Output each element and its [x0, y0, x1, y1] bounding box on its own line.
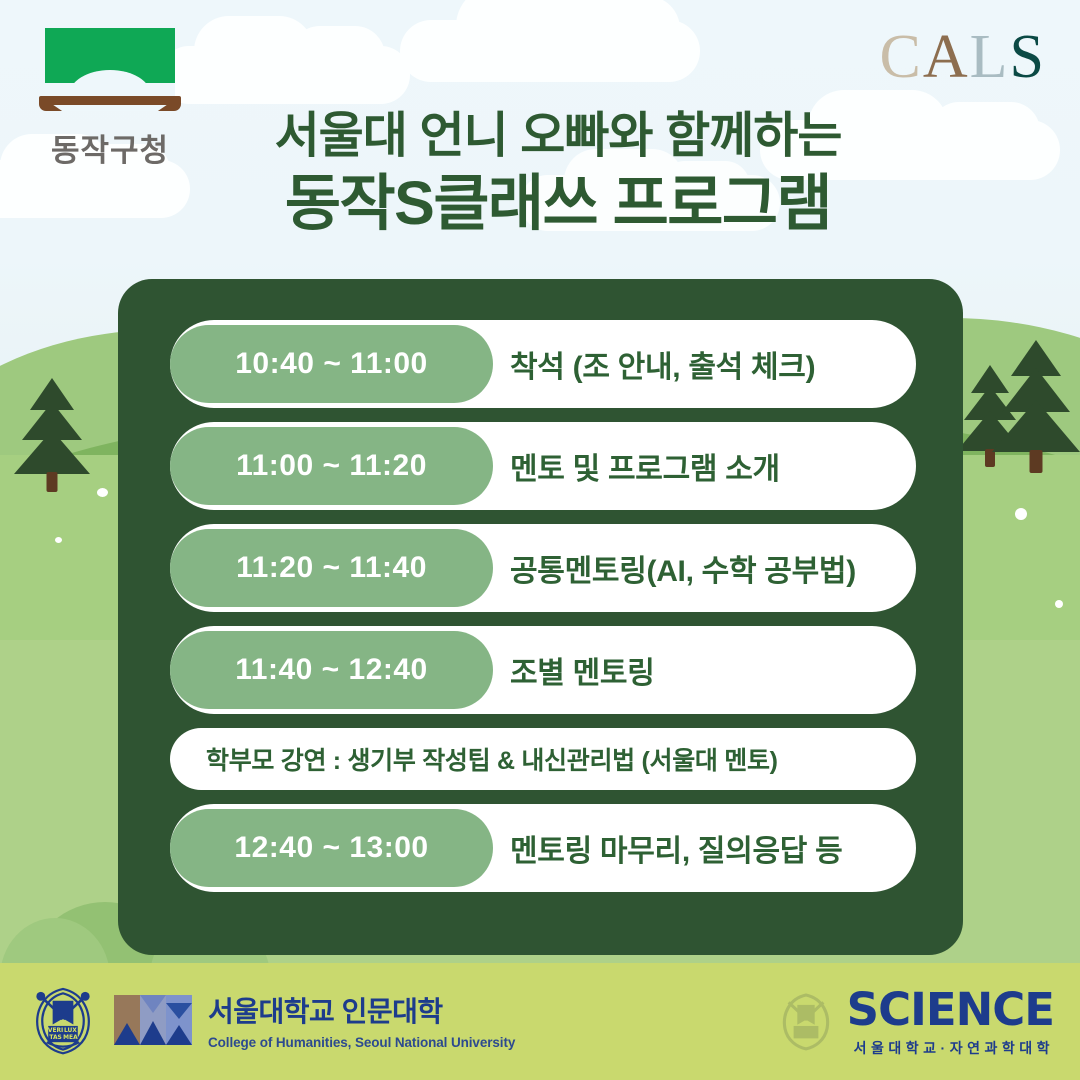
science-logo: SCIENCE 서울대학교·자연과학대학: [775, 983, 1054, 1058]
decorative-dot: [97, 488, 108, 497]
schedule-row-title: 멘토 및 프로그램 소개: [510, 422, 894, 510]
schedule-row: 학부모 강연 : 생기부 작성팁 & 내신관리법 (서울대 멘토): [170, 728, 916, 790]
pine-tree-icon: [12, 378, 92, 488]
page-title: 서울대 언니 오빠와 함께하는 동작S클래쓰 프로그램: [218, 108, 898, 238]
schedule-time-pill: 11:00 ~ 11:20: [170, 427, 493, 505]
svg-text:LUX: LUX: [64, 1028, 77, 1034]
cloud-shape: [160, 46, 410, 104]
cals-letter: A: [923, 23, 970, 91]
snu-crest-icon: VERILUX TASMEA: [26, 983, 100, 1057]
cloud-shape: [400, 20, 700, 82]
humanities-logo: VERILUX TASMEA 서울대학교 인문대학 College of Hum…: [26, 983, 515, 1057]
poster-root: 동작구청 CALS 서울대 언니 오빠와 함께하는 동작S클래쓰 프로그램 10…: [0, 0, 1080, 1080]
schedule-rows: 10:40 ~ 11:00착석 (조 안내, 출석 체크)11:00 ~ 11:…: [170, 320, 916, 906]
decorative-dot: [55, 537, 62, 543]
decorative-dot: [1015, 508, 1027, 520]
cals-logo: CALS: [880, 22, 1047, 93]
cals-letter: C: [880, 23, 923, 91]
cals-letter: S: [1010, 23, 1046, 91]
svg-text:VERI: VERI: [48, 1028, 63, 1034]
schedule-time-pill: 11:40 ~ 12:40: [170, 631, 493, 709]
humanities-name-en: College of Humanities, Seoul National Un…: [208, 1035, 515, 1050]
title-line-2: 동작S클래쓰 프로그램: [218, 168, 898, 238]
science-wordmark: SCIENCE: [847, 983, 1054, 1036]
schedule-time-pill: 10:40 ~ 11:00: [170, 325, 493, 403]
dongjak-gu-logo: 동작구청: [30, 28, 190, 170]
humanities-mark-icon: [114, 995, 192, 1045]
cals-letter: L: [970, 23, 1010, 91]
svg-text:MEA: MEA: [63, 1035, 78, 1041]
schedule-row-title: 공통멘토링(AI, 수학 공부법): [510, 524, 894, 612]
pine-tree-icon: [990, 340, 1080, 470]
schedule-row-title: 학부모 강연 : 생기부 작성팁 & 내신관리법 (서울대 멘토): [206, 728, 894, 790]
snu-crest-watermark-icon: [775, 990, 837, 1052]
schedule-row-title: 멘토링 마무리, 질의응답 등: [510, 804, 894, 892]
humanities-text: 서울대학교 인문대학 College of Humanities, Seoul …: [208, 990, 515, 1050]
science-name-kr: 서울대학교·자연과학대학: [847, 1038, 1054, 1058]
dongjak-logo-label: 동작구청: [30, 125, 190, 170]
decorative-dot: [1055, 600, 1063, 608]
schedule-time-pill: 12:40 ~ 13:00: [170, 809, 493, 887]
schedule-time-pill: 11:20 ~ 11:40: [170, 529, 493, 607]
schedule-row: 11:00 ~ 11:20멘토 및 프로그램 소개: [170, 422, 916, 510]
humanities-name-kr: 서울대학교 인문대학: [208, 990, 515, 1030]
schedule-row-title: 착석 (조 안내, 출석 체크): [510, 320, 894, 408]
gate-roof-icon: [39, 28, 181, 116]
schedule-row: 11:40 ~ 12:40조별 멘토링: [170, 626, 916, 714]
svg-text:TAS: TAS: [49, 1035, 61, 1041]
schedule-row: 10:40 ~ 11:00착석 (조 안내, 출석 체크): [170, 320, 916, 408]
schedule-row: 12:40 ~ 13:00멘토링 마무리, 질의응답 등: [170, 804, 916, 892]
title-line-1: 서울대 언니 오빠와 함께하는: [218, 108, 898, 166]
science-text: SCIENCE 서울대학교·자연과학대학: [847, 983, 1054, 1058]
schedule-row-title: 조별 멘토링: [510, 626, 894, 714]
schedule-row: 11:20 ~ 11:40공통멘토링(AI, 수학 공부법): [170, 524, 916, 612]
